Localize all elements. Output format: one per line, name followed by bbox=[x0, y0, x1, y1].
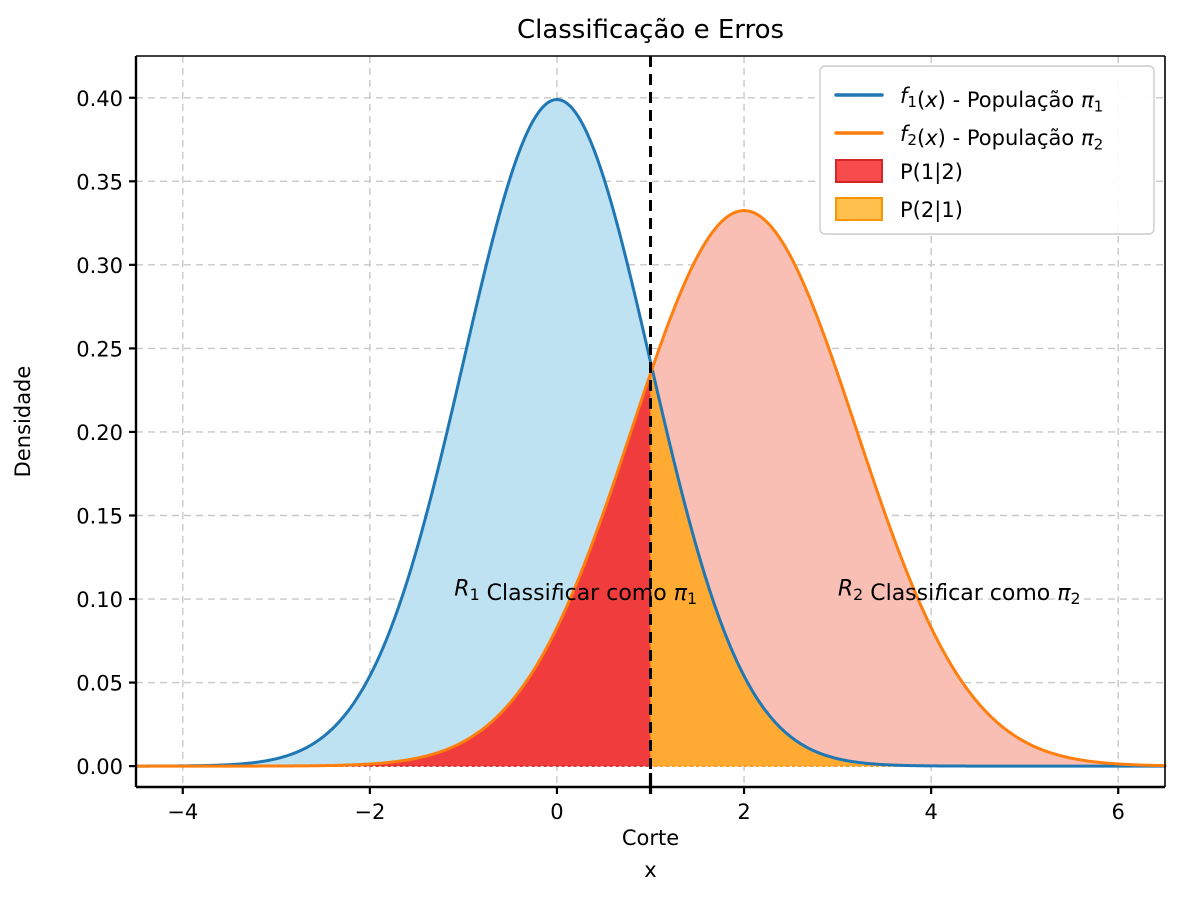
legend-label-0: f1(x) - População π1 bbox=[900, 84, 1103, 115]
y-tick-label-7: 0.35 bbox=[76, 170, 123, 194]
legend-label-1: f2(x) - População π2 bbox=[900, 122, 1103, 153]
classification-errors-chart: −4−20246Corte0.000.050.100.150.200.250.3… bbox=[0, 0, 1194, 900]
x-tick-label-1: −2 bbox=[354, 800, 385, 824]
y-axis-label: Densidade bbox=[11, 366, 35, 478]
x-tick-label-2: 0 bbox=[550, 800, 563, 824]
legend-patch-swatch-3 bbox=[836, 198, 882, 220]
legend-patch-swatch-2 bbox=[836, 160, 882, 182]
chart-title: Classificação e Erros bbox=[517, 15, 784, 45]
x-axis-label: x bbox=[644, 858, 656, 882]
x-tick-label-4: 4 bbox=[924, 800, 937, 824]
figure-canvas: −4−20246Corte0.000.050.100.150.200.250.3… bbox=[0, 0, 1194, 900]
y-tick-label-2: 0.10 bbox=[76, 588, 123, 612]
legend-label-3: P(2|1) bbox=[900, 198, 963, 223]
y-tick-label-1: 0.05 bbox=[76, 672, 123, 696]
y-tick-label-0: 0.00 bbox=[76, 755, 123, 779]
legend-label-2: P(1|2) bbox=[900, 160, 963, 185]
cut-tick-label: Corte bbox=[622, 826, 679, 850]
x-tick-label-3: 2 bbox=[737, 800, 750, 824]
x-tick-label-5: 6 bbox=[1112, 800, 1125, 824]
y-tick-label-4: 0.20 bbox=[76, 421, 123, 445]
y-tick-label-3: 0.15 bbox=[76, 504, 123, 528]
y-tick-label-6: 0.30 bbox=[76, 254, 123, 278]
annotation-region-2: R2 Classificar como π2 bbox=[838, 576, 1081, 608]
x-tick-label-0: −4 bbox=[167, 800, 198, 824]
y-tick-label-5: 0.25 bbox=[76, 337, 123, 361]
legend: f1(x) - População π1f2(x) - População π2… bbox=[820, 66, 1154, 234]
annotation-region-1: R1 Classificar como π1 bbox=[454, 576, 697, 608]
y-tick-label-8: 0.40 bbox=[76, 87, 123, 111]
